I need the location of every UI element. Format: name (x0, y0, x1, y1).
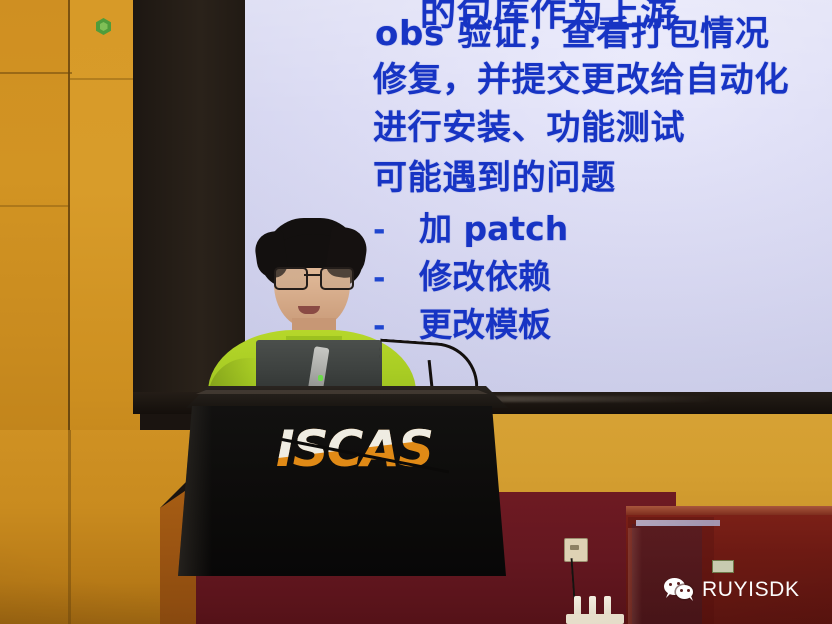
glasses-icon (272, 267, 354, 287)
desk-light-strip (636, 520, 720, 526)
wechat-eye-dot (687, 589, 690, 592)
slide-line-2: 修复，并提交更改给自动化 (373, 52, 789, 101)
bullet-label-3: 更改模板 (419, 298, 551, 346)
bullet-label-1: 加 patch (419, 202, 568, 250)
wall-seam-horizontal-mid (0, 205, 70, 207)
glasses-lens-right (320, 267, 354, 290)
router-base (566, 614, 624, 624)
wechat-eye-dot (677, 582, 680, 585)
wooden-desk-edge (628, 528, 642, 624)
slide-line-3: 进行安装、功能测试 (373, 100, 685, 149)
wall-seam-horizontal-inner (70, 78, 142, 80)
wechat-eye-dot (680, 589, 683, 592)
power-outlet-socket (570, 545, 579, 550)
presentation-photo: 的包库作为上游 obs 验证，查看打包情况 修复，并提交更改给自动化 进行安装、… (0, 0, 832, 624)
power-outlet (564, 538, 588, 562)
slide-line-1: obs 验证，查看打包情况 (375, 6, 770, 55)
remote-led-indicator (318, 375, 323, 381)
lectern-top (186, 386, 508, 408)
bullet-label-2: 修改依赖 (419, 250, 551, 298)
wooden-desk-top (626, 506, 832, 515)
watermark: RUYISDK (664, 578, 800, 600)
wall-block-seam (68, 430, 71, 624)
wechat-icon (664, 578, 694, 600)
glasses-lens-left (274, 267, 308, 290)
lectern-top-edge (196, 390, 488, 394)
desk-label-sticker (712, 560, 734, 573)
iscas-logo: ISCAS ISCAS (276, 424, 454, 476)
wall-seam-horizontal-top (0, 72, 72, 74)
wechat-eye-dot (669, 583, 672, 586)
wooden-desk-shadow (632, 524, 702, 624)
watermark-label: RUYISDK (702, 579, 800, 600)
slide-line-4: 可能遇到的问题 (373, 150, 616, 199)
